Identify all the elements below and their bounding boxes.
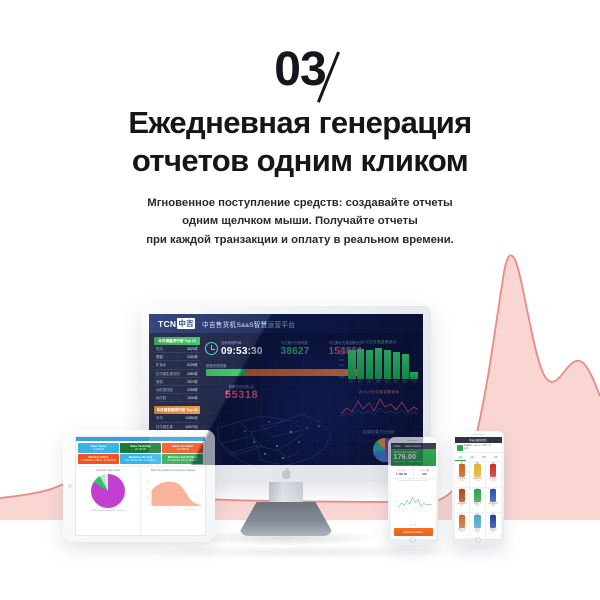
row-name: 绿茶 bbox=[156, 379, 163, 384]
stat-value: 1 795.00 bbox=[391, 472, 413, 476]
row-value: 1944件 bbox=[187, 395, 198, 400]
tablet-stat-card[interactable]: Sales Today¥1 865.00 bbox=[78, 443, 119, 453]
area-chart-title: Real Time Sales And Number Analysis bbox=[143, 469, 203, 472]
y-tick: 3000 bbox=[339, 364, 348, 367]
product-price: ¥6.0 bbox=[491, 480, 495, 482]
svg-text:01: 01 bbox=[397, 511, 400, 514]
table-row[interactable]: 红牛维生素饮料 2884件 bbox=[154, 370, 200, 378]
home-button-icon[interactable] bbox=[410, 537, 416, 543]
line-chart-widget[interactable]: 近24小时交易金额波动 bbox=[339, 390, 419, 424]
product-price: ¥3.5 bbox=[460, 505, 464, 507]
x-tick: 周六 bbox=[393, 379, 401, 384]
china-map-widget[interactable] bbox=[199, 398, 349, 465]
china-map-svg bbox=[199, 398, 349, 465]
tablet-charts-row: Payment Type Used WeChat Pay 84% Alipay … bbox=[76, 466, 205, 535]
bar bbox=[402, 354, 410, 379]
tablet-stat-card[interactable]: Sales Yesterday¥2 134.00 bbox=[120, 443, 161, 453]
svg-text:05: 05 bbox=[408, 511, 411, 514]
stat-total: Total (元) 1 795.00 bbox=[391, 466, 413, 478]
machine-status: 在线 bbox=[464, 448, 468, 450]
product-cell[interactable]: 雪碧汽水¥3.0 bbox=[470, 488, 486, 514]
bar-chart-bars bbox=[348, 347, 418, 379]
product-thumbnail-icon bbox=[490, 489, 497, 502]
machine-name: 机器编号 TCN001 - 商场一层 bbox=[464, 445, 491, 447]
kpi-label: 今日累计交易笔数 bbox=[281, 340, 310, 345]
row-name: 纯牛奶 bbox=[156, 395, 166, 400]
progress-bar bbox=[206, 369, 361, 376]
product-thumbnail-icon bbox=[490, 515, 497, 528]
product-thumbnail-icon bbox=[459, 489, 466, 502]
bar-chart-x-axis: 周一周二周三周四周五周六周日今日 bbox=[348, 379, 418, 384]
machine-info-row[interactable]: 机器编号 TCN001 - 商场一层 在线 bbox=[455, 443, 502, 453]
table-row[interactable]: 可乐 3625件 bbox=[154, 345, 200, 353]
bar bbox=[393, 352, 401, 379]
svg-text:03: 03 bbox=[403, 511, 406, 514]
table-row[interactable]: 雪碧 3302件 bbox=[154, 353, 200, 361]
area-chart-widget[interactable]: Real Time Sales And Number Analysis bbox=[140, 467, 205, 535]
svg-text:60: 60 bbox=[394, 496, 396, 498]
product-thumbnail-icon bbox=[459, 515, 466, 528]
ranking-card-sales-qty: 本月销量排行榜 Top 10 可乐 3625件 雪碧 3302件 矿泉水 310… bbox=[154, 337, 200, 402]
row-name: 红牛维生素 bbox=[156, 424, 173, 429]
table-row[interactable]: 冰红茶饮品 2288件 bbox=[154, 386, 200, 394]
phone-speaker-notch bbox=[408, 440, 419, 441]
row-value: 12850元 bbox=[185, 415, 198, 420]
bar bbox=[410, 372, 418, 379]
svg-text:25: 25 bbox=[146, 496, 148, 498]
apple-logo-icon bbox=[282, 468, 291, 479]
imac-stand-foot bbox=[240, 502, 332, 536]
machine-info-text: 机器编号 TCN001 - 商场一层 在线 bbox=[464, 445, 491, 451]
kpi-label: 当前系统时间 bbox=[221, 340, 263, 345]
row-name: 雪碧 bbox=[156, 354, 163, 359]
svg-text:20: 20 bbox=[394, 505, 396, 507]
pie-chart-title: Payment Type Used bbox=[78, 469, 138, 472]
progress-segment-green bbox=[206, 369, 246, 376]
kpi-row: 当前系统时间 09:53:30 今日累计交易笔数 38627 今日累计交易金额(… bbox=[205, 340, 337, 357]
stat-count: Count (笔) 213 bbox=[413, 466, 436, 478]
tablet-stat-cards: Sales Today¥1 865.00Sales Yesterday¥2 13… bbox=[76, 441, 205, 466]
product-price: ¥3.0 bbox=[476, 505, 480, 507]
y-tick: 1000 bbox=[339, 376, 348, 379]
legend-item: Alipay 8% bbox=[107, 510, 115, 512]
svg-text:50: 50 bbox=[146, 488, 148, 490]
legend-item: Cash 5% bbox=[117, 510, 125, 512]
product-thumbnail-icon bbox=[459, 464, 466, 477]
svg-text:09: 09 bbox=[419, 511, 422, 514]
area-chart-xlabel: a. Sale Range bbox=[186, 509, 196, 511]
row-value: 3106件 bbox=[187, 362, 198, 367]
row-value: 3625件 bbox=[187, 346, 198, 351]
product-price: ¥5.0 bbox=[476, 480, 480, 482]
row-value: 2288件 bbox=[187, 387, 198, 392]
product-grid: 可乐 330ml¥3.0黄金维生素¥5.0红牛饮料¥6.0康师傅红茶¥3.5雪碧… bbox=[455, 462, 502, 539]
tablet-stat-card[interactable]: Machines Out Of StockPre Number 04 / 21 … bbox=[162, 454, 203, 464]
bar-chart-widget[interactable]: 近七日交易趋势统计 6000 5000 4000 3000 2000 1000 … bbox=[339, 340, 419, 384]
y-tick: 2000 bbox=[339, 370, 348, 373]
phone-line-chart-svg: 020 4060 01 03 05 07 09 11 bbox=[393, 484, 434, 523]
product-cell[interactable]: 蓝色能量饮¥6.5 bbox=[486, 488, 502, 514]
bar-chart-title: 近七日交易趋势统计 bbox=[339, 340, 419, 345]
bar bbox=[366, 350, 374, 379]
stat-card-value: ¥1 865.00 bbox=[79, 448, 118, 451]
category-tab[interactable]: 饮料 bbox=[466, 453, 478, 461]
pie-chart-legend: WeChat Pay 84% Alipay 8% Cash 5% bbox=[78, 510, 138, 512]
product-price: ¥4.5 bbox=[460, 531, 464, 533]
category-tabs: 全部饮料零食其他 bbox=[455, 453, 502, 462]
tablet-stat-card[interactable]: Sales This Week¥12 408.00 bbox=[162, 443, 203, 453]
income-amount: 179.00 bbox=[394, 454, 433, 461]
row-value: 3302件 bbox=[187, 354, 198, 359]
category-tab[interactable]: 零食 bbox=[478, 453, 490, 461]
income-breakdown: Cash 17.00 Online 162.00 bbox=[394, 461, 433, 463]
y-tick: 6000 bbox=[339, 347, 348, 350]
svg-text:12: 12 bbox=[169, 508, 171, 510]
table-row[interactable]: 可乐 12850元 bbox=[154, 414, 200, 422]
stat-value: 213 bbox=[414, 472, 436, 476]
brand-prefix: TCN bbox=[158, 319, 176, 329]
row-value: 10570元 bbox=[185, 424, 198, 429]
product-price: ¥6.5 bbox=[491, 505, 495, 507]
ranking-header-amount: 本月销售额排行榜 Top 10 bbox=[154, 406, 200, 414]
tablet-screen: Sales Today¥1 865.00Sales Yesterday¥2 13… bbox=[75, 436, 206, 536]
svg-text:07: 07 bbox=[414, 511, 417, 514]
product-cell[interactable]: 红牛饮料¥6.0 bbox=[486, 462, 502, 488]
x-tick: 周日 bbox=[402, 379, 410, 384]
x-tick: 周五 bbox=[384, 379, 392, 384]
product-cell[interactable]: 黄金维生素¥5.0 bbox=[470, 462, 486, 488]
stat-card-value: Pre Number 04 / 21 Platform bbox=[163, 459, 202, 462]
phone-line-chart[interactable]: 020 4060 01 03 05 07 09 11 bbox=[391, 483, 436, 524]
tablet-stat-card[interactable]: Machine Online17 Platform / Offline : 02… bbox=[78, 454, 119, 464]
kpi-system-time: 当前系统时间 09:53:30 bbox=[221, 340, 263, 357]
pie-chart-graphic bbox=[91, 474, 125, 508]
income-cash: Cash 17.00 bbox=[394, 461, 405, 463]
category-tab[interactable]: 全部 bbox=[455, 453, 467, 461]
product-cell[interactable]: 功能饮料¥7.0 bbox=[486, 513, 502, 539]
product-cell[interactable]: 苏打水¥2.5 bbox=[470, 513, 486, 539]
product-price: ¥3.0 bbox=[460, 480, 464, 482]
slide-canvas: 03 Ежедневная генерация отчетов одним кл… bbox=[0, 0, 600, 600]
phone-screen: < Back Sales Report Total Income Yesterd… bbox=[391, 443, 436, 539]
product-thumbnail-icon bbox=[474, 464, 481, 477]
svg-text:0: 0 bbox=[394, 509, 395, 511]
x-tick: 今日 bbox=[410, 379, 418, 384]
kpi-value: 38627 bbox=[281, 346, 310, 357]
table-row[interactable]: 矿泉水 3106件 bbox=[154, 361, 200, 369]
ranking-header-qty: 本月销量排行榜 Top 10 bbox=[154, 337, 200, 345]
device-mockup-group: TCN 中吉 中吉售货机SaaS智慧运营平台 本月销量排行榜 Top 10 可乐 bbox=[0, 0, 600, 600]
row-value: 2570件 bbox=[187, 379, 198, 384]
table-row[interactable]: 纯牛奶 1944件 bbox=[154, 394, 200, 402]
product-cell[interactable]: 饼干礼包¥4.5 bbox=[455, 513, 471, 539]
brand-cn: 中吉 bbox=[177, 318, 195, 329]
svg-text:11: 11 bbox=[425, 511, 427, 513]
income-label: Total Income Yesterday bbox=[394, 452, 433, 454]
income-summary-card: Total Income Yesterday 179.00 Cash 17.00… bbox=[391, 449, 436, 466]
product-cell[interactable]: 康师傅红茶¥3.5 bbox=[455, 488, 471, 514]
tablet-mockup: Sales Today¥1 865.00Sales Yesterday¥2 13… bbox=[63, 430, 215, 542]
secondary-chart-title: 区域交易占比分析 bbox=[339, 430, 419, 435]
income-online: Online 162.00 bbox=[409, 461, 423, 463]
row-value: 2884件 bbox=[187, 371, 198, 376]
phone-speaker-notch bbox=[473, 434, 484, 435]
dashboard-title: 中吉售货机SaaS智慧运营平台 bbox=[202, 319, 295, 329]
y-tick: 4000 bbox=[339, 359, 348, 362]
kpi-transaction-count: 今日累计交易笔数 38627 bbox=[281, 340, 310, 357]
line-chart-svg bbox=[339, 395, 419, 419]
phone-nav-bar: < Back Sales Report bbox=[391, 443, 436, 449]
x-tick: 周二 bbox=[357, 379, 365, 384]
product-thumbnail-icon bbox=[474, 515, 481, 528]
svg-text:75: 75 bbox=[146, 481, 148, 483]
product-thumbnail-icon bbox=[474, 489, 481, 502]
phone-sales-report-mockup: < Back Sales Report Total Income Yesterd… bbox=[388, 437, 438, 545]
product-price: ¥2.5 bbox=[476, 531, 480, 533]
row-name: 冰红茶饮品 bbox=[156, 387, 173, 392]
row-name: 红牛维生素饮料 bbox=[156, 371, 180, 376]
progress-label: 销售完成进度 bbox=[206, 363, 226, 368]
bar bbox=[357, 349, 365, 379]
y-tick: 5000 bbox=[339, 353, 348, 356]
svg-text:0: 0 bbox=[146, 505, 147, 507]
x-tick: 周四 bbox=[375, 379, 383, 384]
back-arrow-icon[interactable]: < Back bbox=[393, 445, 401, 448]
bar bbox=[348, 350, 356, 379]
clock-icon bbox=[205, 342, 218, 355]
row-name: 可乐 bbox=[156, 415, 163, 420]
phone-vending-app-mockup: 中吉自助售货机 机器编号 TCN001 - 商场一层 在线 全部饮料零食其他 可… bbox=[452, 431, 504, 545]
stat-card-value: 17 Platform / Offline : 02 Platform bbox=[79, 459, 118, 462]
stat-card-value: ¥2 134.00 bbox=[121, 448, 160, 451]
stat-card-value: ¥12 408.00 bbox=[163, 448, 202, 451]
phone-stats-row: Total (元) 1 795.00 Count (笔) 213 bbox=[391, 466, 436, 479]
svg-text:40: 40 bbox=[394, 501, 396, 503]
x-tick: 周一 bbox=[348, 379, 356, 384]
category-tab[interactable]: 其他 bbox=[490, 453, 502, 461]
kpi-value: 09:53:30 bbox=[221, 346, 263, 357]
product-price: ¥7.0 bbox=[491, 531, 495, 533]
svg-text:4: 4 bbox=[157, 508, 158, 510]
bar bbox=[375, 348, 383, 379]
dashboard-header: TCN 中吉 中吉售货机SaaS智慧运营平台 bbox=[149, 314, 423, 333]
vending-nav-title: 中吉自助售货机 bbox=[469, 438, 487, 442]
generate-report-button[interactable]: Generate Report bbox=[394, 528, 433, 536]
area-chart-svg: 025 5075 41220 a. Sale Range bbox=[143, 472, 203, 514]
pie-chart-widget[interactable]: Payment Type Used WeChat Pay 84% Alipay … bbox=[76, 467, 140, 535]
legend-item: WeChat Pay 84% bbox=[92, 510, 107, 512]
machine-thumbnail-icon bbox=[457, 445, 463, 451]
phone-nav-title: Sales Report bbox=[405, 444, 421, 448]
x-tick: 周三 bbox=[366, 379, 374, 384]
brand-logo: TCN 中吉 bbox=[158, 318, 195, 329]
tablet-stat-card[interactable]: Machines RestockPre Number 05 / 21 Platf… bbox=[120, 454, 161, 464]
table-row[interactable]: 绿茶 2570件 bbox=[154, 378, 200, 386]
row-name: 矿泉水 bbox=[156, 362, 166, 367]
row-name: 可乐 bbox=[156, 346, 163, 351]
product-cell[interactable]: 可乐 330ml¥3.0 bbox=[455, 462, 471, 488]
product-thumbnail-icon bbox=[490, 464, 497, 477]
home-button-icon[interactable] bbox=[475, 537, 481, 543]
stat-card-value: Pre Number 05 / 21 Platform bbox=[121, 459, 160, 462]
bar bbox=[384, 350, 392, 379]
bar-chart-y-axis: 6000 5000 4000 3000 2000 1000 bbox=[339, 347, 348, 379]
phone-chart-xlabel: 月 / 日 bbox=[391, 524, 436, 527]
phone-screen: 中吉自助售货机 机器编号 TCN001 - 商场一层 在线 全部饮料零食其他 可… bbox=[455, 437, 502, 539]
